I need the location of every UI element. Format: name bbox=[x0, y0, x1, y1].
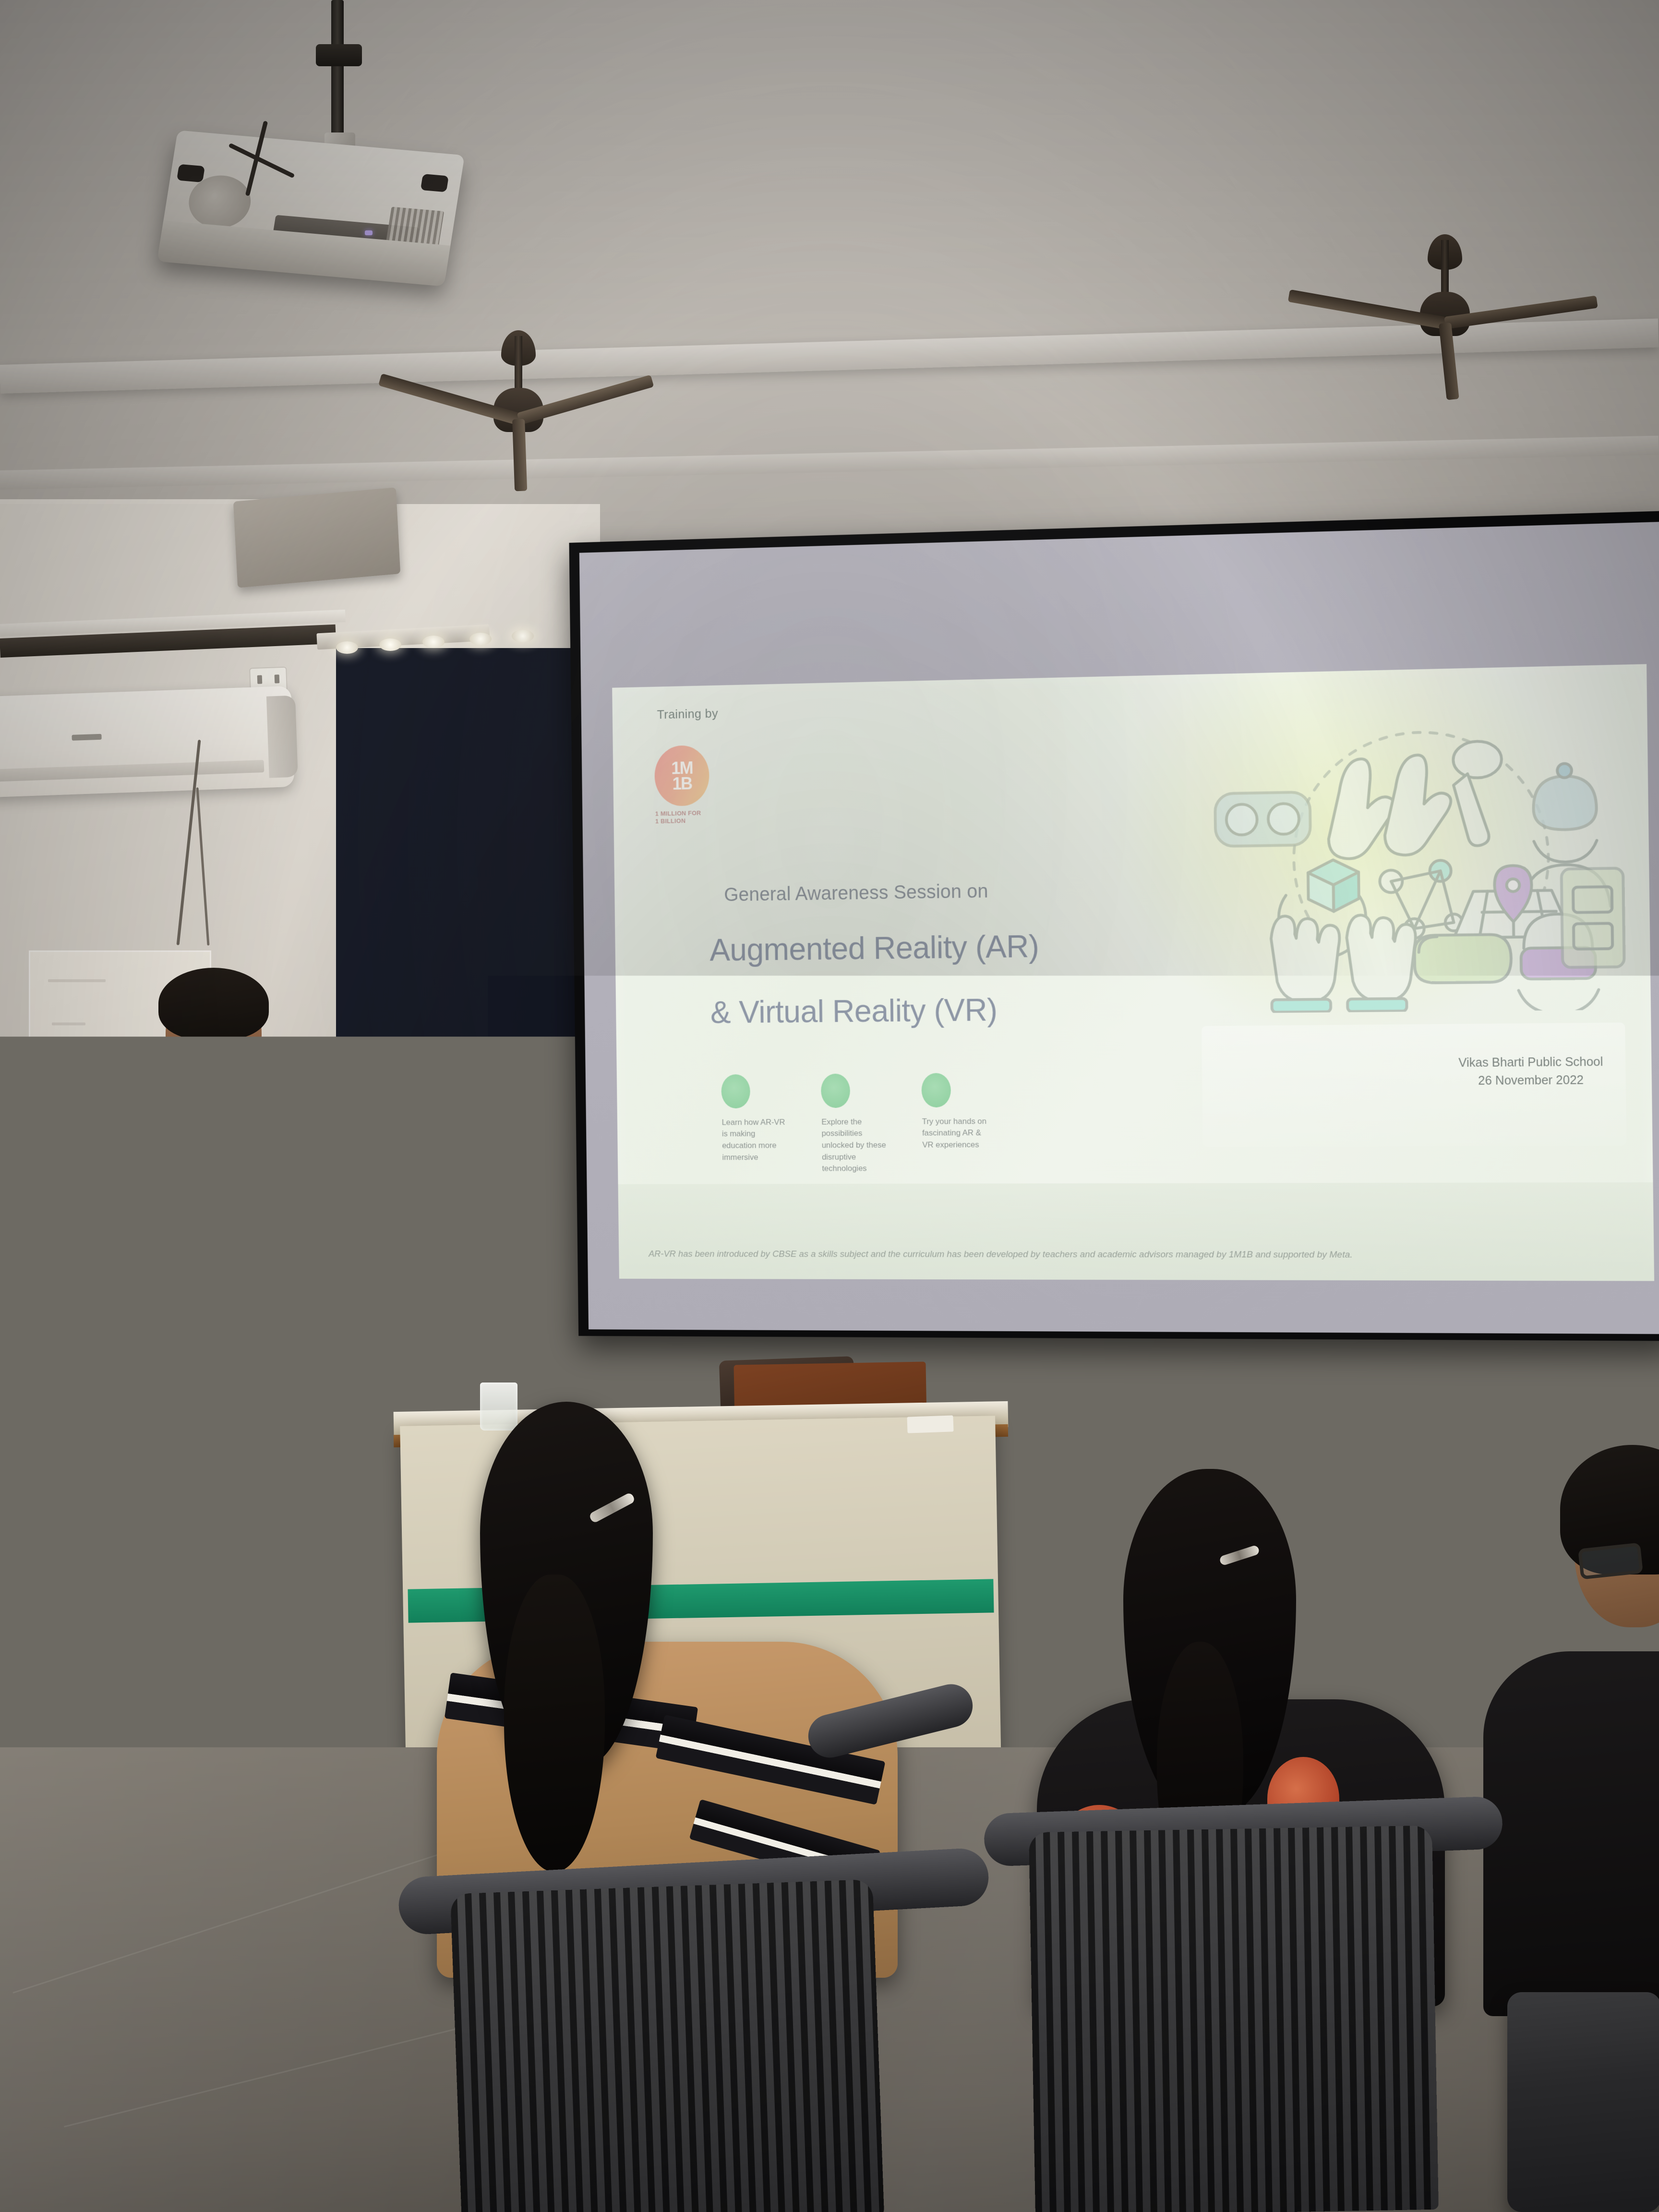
desk-drawer-divider bbox=[0, 1546, 392, 1561]
fan-downrod bbox=[515, 336, 522, 394]
ac-side-panel bbox=[266, 696, 298, 778]
venue-date: 26 November 2022 bbox=[1459, 1071, 1604, 1090]
vr-controller-icon bbox=[1453, 741, 1503, 846]
headset-device-icon bbox=[1415, 934, 1512, 983]
benefit-bullet-icon bbox=[921, 1073, 951, 1107]
vr-goggles-icon bbox=[1215, 792, 1310, 846]
whiteboard-mark bbox=[46, 1104, 113, 1107]
projector-pole-clamp bbox=[316, 44, 362, 66]
audience-ponytail bbox=[504, 1575, 605, 1872]
projection-screen: Training by 1M1B 1 MILLION FOR1 BILLION … bbox=[569, 511, 1659, 1341]
projector-status-led-icon bbox=[365, 230, 373, 235]
eyeglasses-icon bbox=[1578, 1542, 1643, 1579]
benefit-text: Learn how AR-VR is making education more… bbox=[721, 1117, 792, 1164]
ar-vr-icon-cluster bbox=[1202, 689, 1629, 1013]
training-by-label: Training by bbox=[657, 706, 719, 722]
plastic-chair-back[interactable] bbox=[1029, 1826, 1439, 2212]
benefit-bullet-icon bbox=[721, 1074, 750, 1108]
presenter-collar bbox=[157, 1098, 222, 1147]
presenter-beard bbox=[177, 1037, 252, 1089]
ceiling-fan-right bbox=[1291, 240, 1599, 394]
rail-lamp-icon bbox=[336, 641, 358, 654]
logo-caption: 1 MILLION FOR1 BILLION bbox=[655, 809, 717, 826]
wall-speaker bbox=[233, 487, 400, 588]
plastic-chair[interactable] bbox=[1507, 1992, 1659, 2212]
benefit-text: Try your hands on fascinating AR & VR ex… bbox=[922, 1116, 994, 1151]
presenter-hair bbox=[158, 968, 269, 1040]
classroom-session-photo: Training by 1M1B 1 MILLION FOR1 BILLION … bbox=[0, 0, 1659, 2212]
venue-name: Vikas Bharti Public School bbox=[1458, 1053, 1603, 1072]
projector-mount-pole bbox=[331, 0, 344, 144]
organization-logo: 1M1B 1 MILLION FOR1 BILLION bbox=[654, 745, 716, 826]
air-conditioner-unit bbox=[0, 686, 294, 797]
whiteboard-mark bbox=[52, 1022, 85, 1025]
slide-eyebrow: General Awareness Session on bbox=[724, 880, 988, 905]
benefit-item: Explore the possibilities unlocked by th… bbox=[821, 1073, 892, 1175]
rail-lamp-icon bbox=[422, 636, 445, 648]
desk-drawer-divider bbox=[0, 1637, 394, 1652]
venue-block: Vikas Bharti Public School 26 November 2… bbox=[1458, 1053, 1603, 1090]
slide-benefits-list: Learn how AR-VR is making education more… bbox=[721, 1071, 1213, 1175]
projection-screen-surface: Training by 1M1B 1 MILLION FOR1 BILLION … bbox=[579, 522, 1659, 1334]
ac-vent-louver bbox=[0, 760, 264, 782]
benefit-item: Try your hands on fascinating AR & VR ex… bbox=[921, 1072, 993, 1174]
projector-foot bbox=[177, 164, 205, 182]
projector-foot bbox=[421, 174, 449, 192]
rail-lamp-icon bbox=[469, 633, 492, 645]
benefit-text: Explore the possibilities unlocked by th… bbox=[821, 1116, 892, 1175]
laptop-screen[interactable] bbox=[0, 1327, 132, 1420]
projector-body bbox=[157, 130, 465, 284]
fan-downrod bbox=[1441, 240, 1449, 298]
laptop-brand-logo-icon bbox=[37, 1358, 60, 1381]
slide-title-line-2: & Virtual Reality (VR) bbox=[710, 991, 998, 1030]
water-glass bbox=[480, 1382, 517, 1431]
hands-icon bbox=[1328, 754, 1452, 859]
smartphone-ar-icon bbox=[1562, 868, 1624, 967]
paper-sheet bbox=[907, 1415, 953, 1433]
whiteboard-mark bbox=[48, 979, 106, 982]
haptic-gloves-icon bbox=[1271, 914, 1417, 1012]
rail-lamp-icon bbox=[512, 630, 534, 642]
presentation-slide: Training by 1M1B 1 MILLION FOR1 BILLION … bbox=[612, 664, 1654, 1281]
slide-footnote-band bbox=[618, 1182, 1654, 1281]
fan-blade bbox=[512, 419, 527, 492]
benefit-item: Learn how AR-VR is making education more… bbox=[721, 1074, 792, 1175]
audience-shoulders bbox=[1483, 1651, 1659, 2016]
slide-footnote: AR-VR has been introduced by CBSE as a s… bbox=[649, 1248, 1622, 1263]
ceiling-fan-left bbox=[374, 336, 662, 490]
rail-lamp-icon bbox=[379, 638, 401, 651]
plastic-chair-back[interactable] bbox=[450, 1879, 884, 2212]
benefit-bullet-icon bbox=[821, 1073, 850, 1108]
ac-display-icon bbox=[72, 734, 101, 741]
slide-title-line-1: Augmented Reality (AR) bbox=[709, 928, 1039, 968]
logo-mark-icon: 1M1B bbox=[654, 745, 709, 806]
